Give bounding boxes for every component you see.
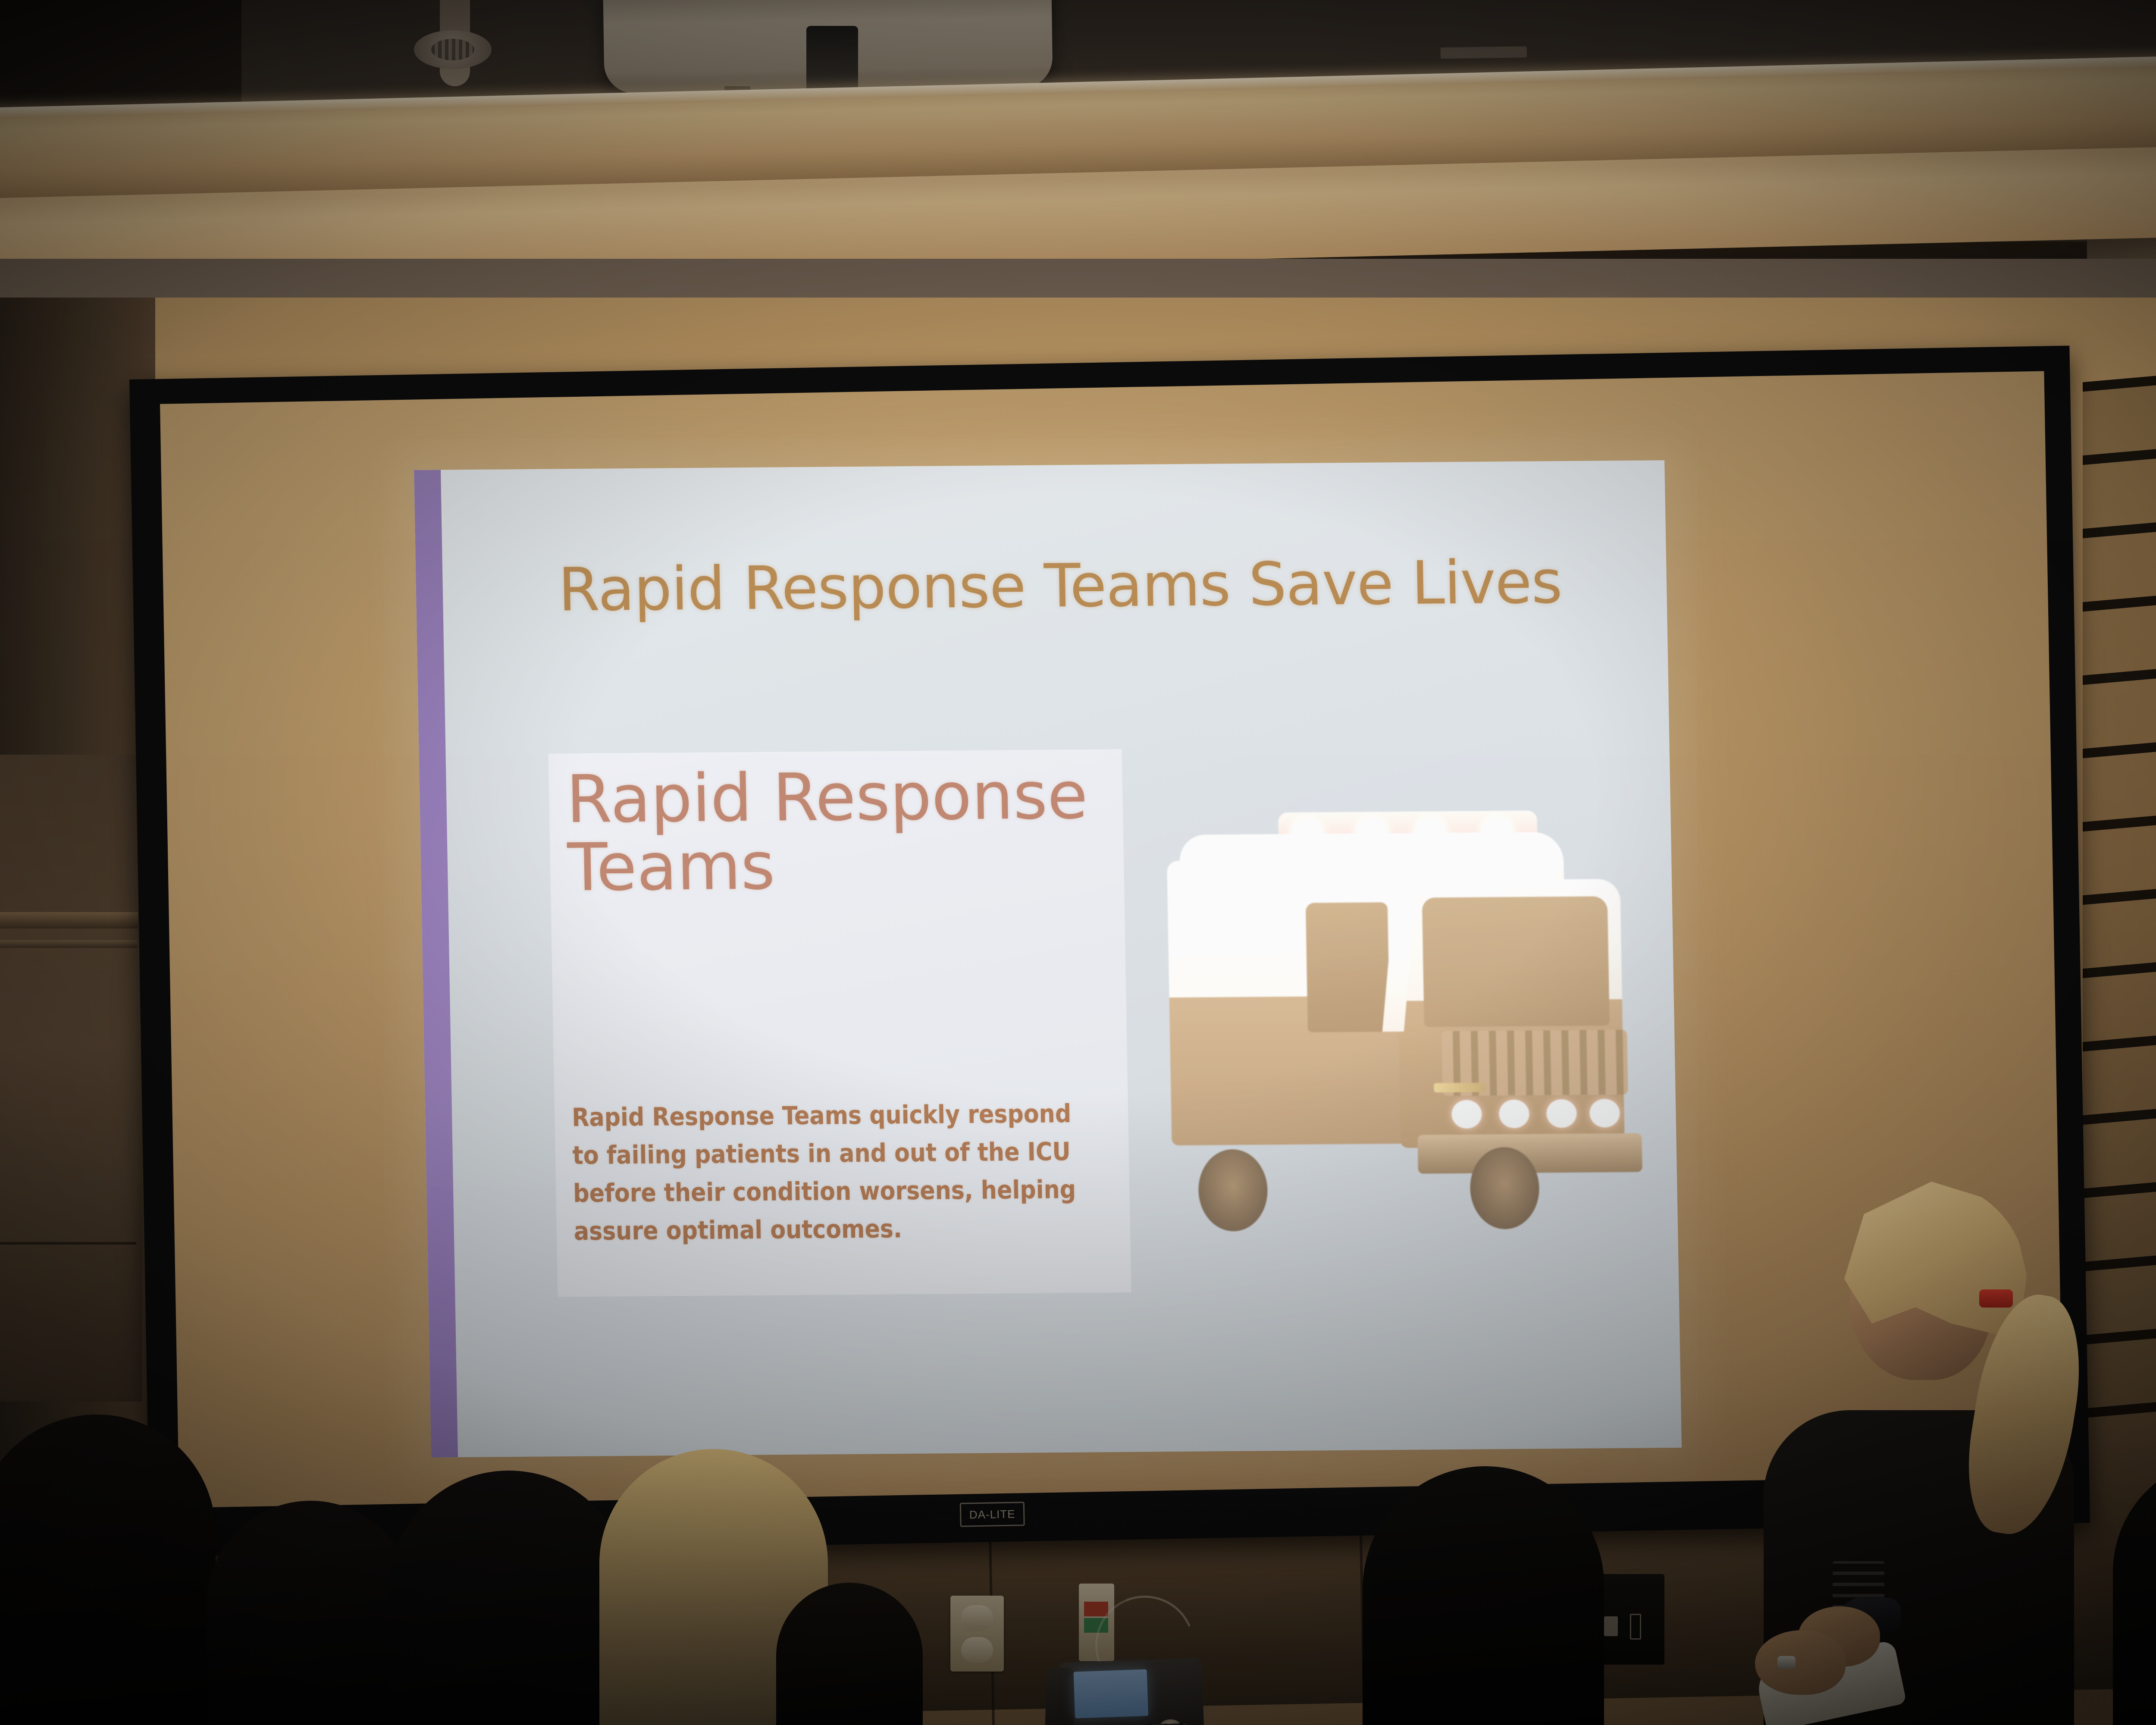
left-wall-molding-secondary: [0, 940, 137, 948]
projector-lens: [806, 26, 858, 91]
av-port-hdmi: [1604, 1616, 1618, 1636]
projected-slide: Rapid Response Teams Save Lives Rapid Re…: [414, 460, 1682, 1457]
ambulance-side-window: [1306, 902, 1390, 1032]
conference-phone[interactable]: [1059, 1658, 1204, 1725]
smoke-detector-grille: [431, 39, 474, 60]
audience-member: [388, 1471, 630, 1725]
av-port-vga: [1630, 1614, 1641, 1640]
audience-member: [0, 1414, 216, 1725]
dalite-brand-badge: DA-LITE: [960, 1502, 1025, 1527]
ambulance-wheel: [1198, 1149, 1268, 1231]
ambulance-headlight: [1499, 1100, 1529, 1129]
presenter: [1746, 1134, 2134, 1725]
phone-handset[interactable]: [1044, 1668, 1075, 1725]
card-body-text: Rapid Response Teams quickly respond to …: [571, 1095, 1096, 1251]
ambulance-turn-signal: [1434, 1082, 1485, 1092]
ambulance-headlight: [1589, 1099, 1620, 1128]
ambulance-windshield: [1422, 896, 1610, 1027]
jack-indicator-red: [1084, 1602, 1108, 1616]
slide-title: Rapid Response Teams Save Lives: [558, 547, 1594, 625]
left-wall-panel: [0, 755, 142, 1402]
left-wall-molding: [0, 912, 138, 928]
ambulance-clipart-icon: [1152, 728, 1636, 1266]
power-outlet: [950, 1596, 1004, 1672]
audience-member: [776, 1583, 923, 1725]
slide-inner-card: Rapid Response Teams Rapid Response Team…: [548, 749, 1131, 1297]
projector-label-plate: [1440, 46, 1526, 59]
card-heading-line-1: Rapid Response: [566, 761, 1110, 834]
audience-member: [207, 1501, 414, 1725]
phone-display: [1074, 1669, 1149, 1719]
card-heading: Rapid Response Teams: [566, 761, 1112, 902]
ambulance-headlight: [1546, 1099, 1577, 1128]
ambulance-headlight: [1451, 1100, 1482, 1129]
left-wall-seam: [0, 1242, 136, 1245]
presenter-hair-tie: [1979, 1289, 2013, 1308]
card-heading-line-2: Teams: [567, 829, 1112, 902]
presenter-hand: [1755, 1630, 1846, 1695]
screenshot-root: DA-LITE Rapid Response Teams Save Lives …: [0, 0, 2156, 1725]
presenter-ring: [1777, 1656, 1796, 1669]
audience-member: [1363, 1466, 1604, 1725]
